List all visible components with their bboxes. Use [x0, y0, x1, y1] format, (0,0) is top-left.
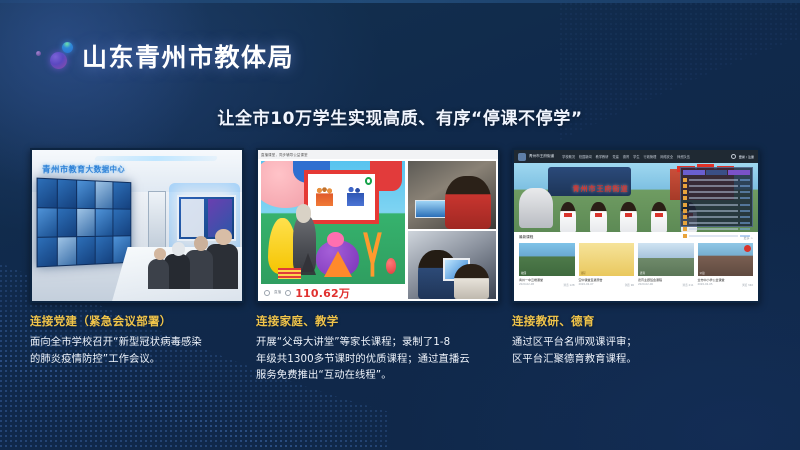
caption-line: 开展“父母大讲堂”等家长课程；录制了1-8 — [256, 334, 500, 351]
card-meta-left: 2020-02-06 — [638, 283, 653, 287]
column-party-building: 青州市教育大数据中心 连接党建（紧急会议部署） 面向全市学校召开“新型冠状病毒感… — [30, 148, 244, 384]
caption-line: 面向全市学校召开“新型冠状病毒感染 — [30, 334, 244, 351]
column-research-moral-ed: 青州市王府街道 学校概况 校园新闻 教学教研 党建 德育 学生 行政管理 网络安… — [512, 148, 760, 384]
nav-item[interactable]: 师资队伍 — [677, 154, 690, 159]
caption-title: 连接党建（紧急会议部署） — [30, 313, 244, 329]
card-meta-left: 2020-02-08 — [519, 283, 534, 287]
site-name: 青州市王府街道 — [529, 154, 554, 159]
nav-item[interactable]: 党建 — [612, 154, 618, 159]
card-meta-right: 浏览 211 — [683, 283, 694, 287]
course-card[interactable]: 课程 空中课堂直播预告 2020-02-07浏览 96 — [579, 243, 635, 287]
course-card[interactable]: 校园 青州一中云端课堂 2020-02-08浏览 128 — [519, 243, 575, 287]
hero-banner-text: 青州市王府街道 — [573, 184, 629, 194]
course-card-list: 校园 青州一中云端课堂 2020-02-08浏览 128 课程 空中课堂直播预告… — [519, 243, 753, 287]
video-wall-title: 青州市教育大数据中心 — [42, 163, 125, 175]
nav-item[interactable]: 校园新闻 — [579, 154, 592, 159]
card-meta-right: 浏览 340 — [742, 283, 753, 287]
photo-school-web-portal: 青州市王府街道 学校概况 校园新闻 教学教研 党建 德育 学生 行政管理 网络安… — [512, 148, 760, 303]
column-family-teaching: 直播课堂，同步辅导公益课堂 — [256, 148, 500, 384]
caption-line: 服务免费推出“互动在线程”。 — [256, 367, 500, 384]
caption-block: 连接教研、德育 通过区平台名师观课评审； 区平台汇聚德育教育课程。 — [512, 313, 760, 367]
nav-item[interactable]: 学生 — [633, 154, 639, 159]
nav-item[interactable]: 网络安全 — [660, 154, 673, 159]
slide-root: 山东青州市教体局 让全市10万学生实现高质、有序“停课不停学” 青州市教育大数据… — [0, 0, 800, 450]
card-title: 德育主题班会课程 — [638, 278, 694, 282]
site-logo-icon — [518, 153, 526, 161]
course-card[interactable]: 公益 全市中小学公益课堂 2020-02-05浏览 340 — [698, 243, 754, 287]
card-title: 空中课堂直播预告 — [579, 278, 635, 282]
nav-item[interactable]: 学校概况 — [562, 154, 575, 159]
eye-icon — [285, 290, 291, 296]
video-wall — [37, 178, 131, 267]
whiteboard-frame — [304, 170, 379, 224]
caption-line: 通过区平台名师观课评审； — [512, 334, 760, 351]
card-meta-right: 浏览 96 — [625, 283, 634, 287]
photo-bigdata-control-room: 青州市教育大数据中心 — [30, 148, 244, 303]
caption-title: 连接家庭、教学 — [256, 313, 500, 329]
site-navbar[interactable]: 青州市王府街道 学校概况 校园新闻 教学教研 党建 德育 学生 行政管理 网络安… — [514, 150, 758, 163]
slide-subtitle: 让全市10万学生实现高质、有序“停课不停学” — [0, 104, 800, 129]
card-meta-left: 2020-02-05 — [698, 283, 713, 287]
card-title: 全市中小学公益课堂 — [698, 278, 754, 282]
header: 山东青州市教体局 — [34, 36, 294, 76]
blue-green-dot-icon — [62, 42, 73, 53]
hero-banner: 青州市王府街道 — [514, 163, 758, 232]
small-purple-dot-icon — [36, 51, 41, 56]
stone-lion — [519, 188, 553, 228]
webcam-tile-top — [408, 161, 496, 229]
view-count: 110.62万 — [295, 285, 350, 301]
player-toolbar: 直播课堂，同步辅导公益课堂 — [258, 150, 498, 159]
caption-block: 连接党建（紧急会议部署） 面向全市学校召开“新型冠状病毒感染 的肺炎疫情防控”工… — [30, 313, 244, 367]
card-meta-left: 2020-02-07 — [579, 283, 594, 287]
photo-live-class-broadcast: 直播课堂，同步辅导公益课堂 — [256, 148, 500, 303]
caption-line: 年级共1300多节课时的优质课程；通过直播云 — [256, 351, 500, 368]
clock-icon — [264, 290, 270, 296]
caption-body: 通过区平台名师观课评审； 区平台汇聚德育教育课程。 — [512, 334, 760, 367]
search-icon[interactable] — [731, 154, 736, 159]
caption-block: 连接家庭、教学 开展“父母大讲堂”等家长课程；录制了1-8 年级共1300多节课… — [256, 313, 500, 384]
nav-item[interactable]: 行政管理 — [644, 154, 657, 159]
page-title: 山东青州市教体局 — [82, 38, 294, 74]
latest-courses-section: 最新课程 更多 > 校园 青州一中云端课堂 2020-02-08浏览 128 课… — [514, 232, 758, 301]
decorative-dots-group — [34, 38, 78, 74]
large-purple-dot-icon — [50, 52, 67, 69]
stamp-icon — [365, 177, 372, 185]
badge-icon — [744, 245, 751, 252]
broadcast-stage — [261, 161, 405, 284]
nav-items[interactable]: 学校概况 校园新闻 教学教研 党建 德育 学生 行政管理 网络安全 师资队伍 — [562, 154, 690, 159]
caption-line: 区平台汇聚德育教育课程。 — [512, 351, 760, 368]
course-card[interactable]: 德育 德育主题班会课程 2020-02-06浏览 211 — [638, 243, 694, 287]
caption-body: 开展“父母大讲堂”等家长课程；录制了1-8 年级共1300多节课时的优质课程；通… — [256, 334, 500, 384]
nav-item[interactable]: 教学教研 — [596, 154, 609, 159]
nav-item[interactable]: 德育 — [623, 154, 629, 159]
card-title: 青州一中云端课堂 — [519, 278, 575, 282]
caption-title: 连接教研、德育 — [512, 313, 760, 329]
section-title: 最新课程 — [519, 235, 533, 240]
course-list-panel[interactable] — [680, 167, 753, 227]
card-meta-right: 浏览 128 — [564, 283, 575, 287]
caption-line: 的肺炎疫情防控”工作会议。 — [30, 351, 244, 368]
content-columns: 青州市教育大数据中心 连接党建（紧急会议部署） 面向全市学校召开“新型冠状病毒感… — [30, 148, 770, 384]
webcam-tile-bottom — [408, 231, 496, 299]
player-meta: 直播 110.62万 — [261, 284, 405, 301]
caption-body: 面向全市学校召开“新型冠状病毒感染 的肺炎疫情防控”工作会议。 — [30, 334, 244, 367]
